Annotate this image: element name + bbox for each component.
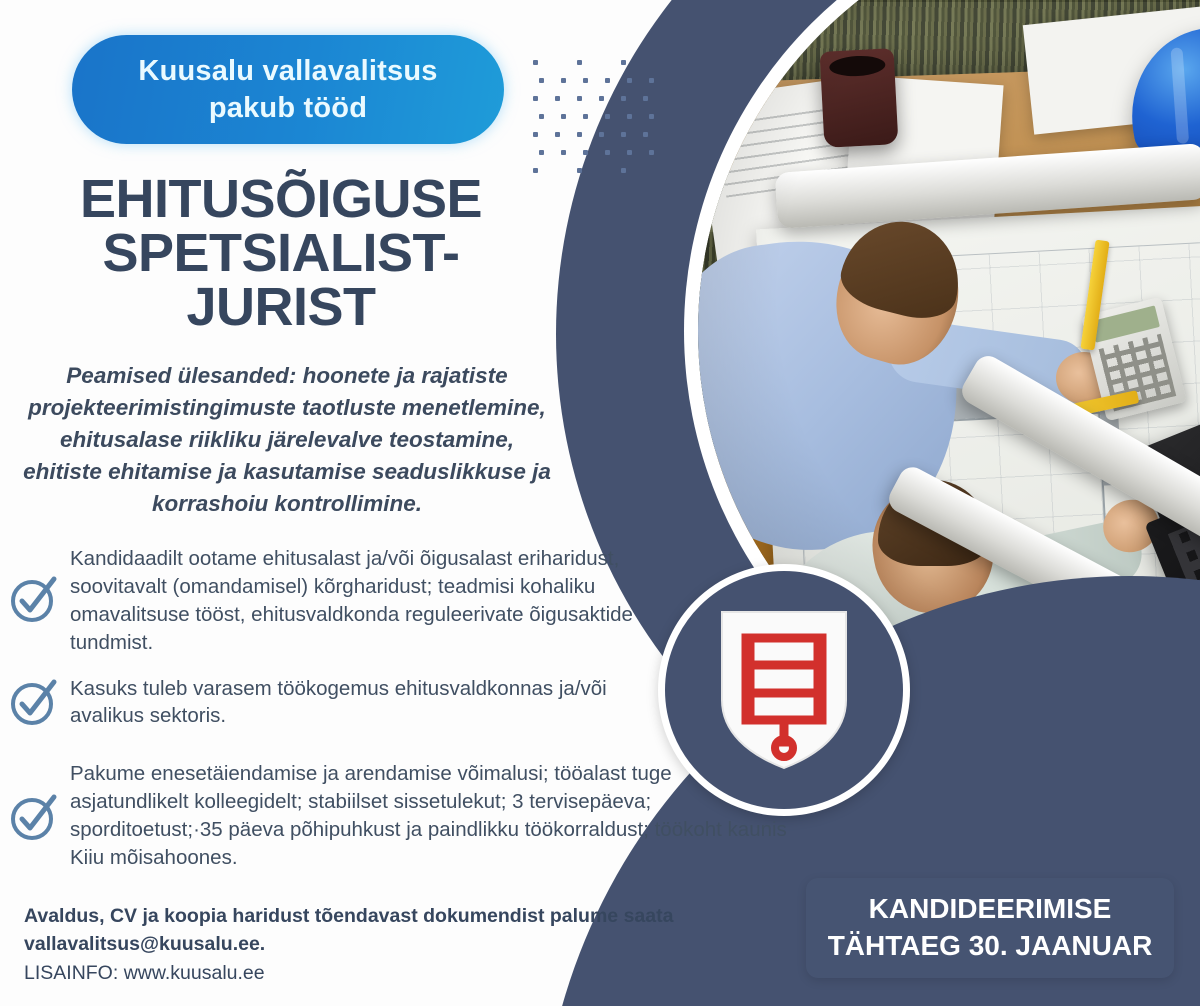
application-deadline-badge: KANDIDEERIMISE TÄHTAEG 30. JAANUAR xyxy=(806,878,1174,978)
employer-badge-line1: Kuusalu vallavalitsus xyxy=(138,53,437,89)
deadline-line2: TÄHTAEG 30. JAANUAR xyxy=(828,928,1153,965)
main-tasks-text: Peamised ülesanded: hoonete ja rajatiste… xyxy=(18,360,556,520)
contact-email[interactable]: vallavalitsus@kuusalu.ee. xyxy=(24,930,673,958)
contact-line-1: Avaldus, CV ja koopia haridust tõendavas… xyxy=(24,902,673,930)
contact-website[interactable]: LISAINFO: www.kuusalu.ee xyxy=(24,959,673,987)
employer-badge-line2: pakub tööd xyxy=(138,90,437,126)
list-item: Kandidaadilt ootame ehitusalast ja/või õ… xyxy=(8,543,798,657)
job-title-line3: JURIST xyxy=(16,280,546,334)
contact-info: Avaldus, CV ja koopia haridust tõendavas… xyxy=(24,902,673,987)
check-circle-icon xyxy=(8,573,60,625)
list-item: Pakume enesetäiendamise ja arendamise võ… xyxy=(8,758,798,872)
list-item-label: Kandidaadilt ootame ehitusalast ja/või õ… xyxy=(70,543,680,657)
list-item-label: Pakume enesetäiendamise ja arendamise võ… xyxy=(70,758,790,872)
check-circle-icon xyxy=(8,676,60,728)
job-title-line2: SPETSIALIST- xyxy=(16,226,546,280)
page-title: EHITUSÕIGUSE SPETSIALIST- JURIST xyxy=(16,172,546,334)
list-item-label: Kasuks tuleb varasem töökogemus ehitusva… xyxy=(70,673,630,731)
deadline-line1: KANDIDEERIMISE xyxy=(869,891,1112,928)
job-title-line1: EHITUSÕIGUSE xyxy=(16,172,546,226)
job-advertisement-poster: Kuusalu vallavalitsus pakub tööd EHITUSÕ… xyxy=(0,0,1200,1006)
requirements-list: Kandidaadilt ootame ehitusalast ja/või õ… xyxy=(8,543,798,890)
list-item: Kasuks tuleb varasem töökogemus ehitusva… xyxy=(8,673,798,731)
text-column: Kuusalu vallavalitsus pakub tööd EHITUSÕ… xyxy=(0,0,800,1006)
check-circle-icon xyxy=(8,791,60,843)
employer-badge: Kuusalu vallavalitsus pakub tööd xyxy=(72,35,504,144)
